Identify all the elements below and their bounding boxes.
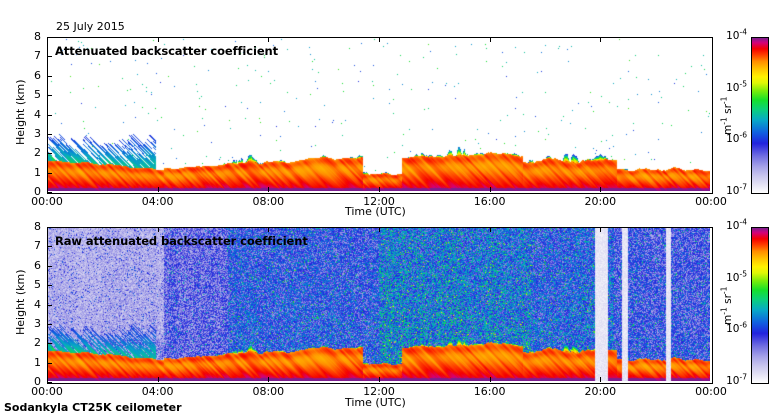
colorbar-tick-top-2: 10-6 (713, 133, 747, 145)
x-tick-top-6: 00:00 (688, 196, 734, 207)
y-tickmark-bottom-0 (47, 382, 52, 383)
y-tickmark-top-0 (47, 192, 52, 193)
x-tickmark-bottom-3 (379, 377, 380, 382)
heatmap-raw (48, 228, 710, 381)
x-tickmark-top-4 (490, 187, 491, 192)
x-tick-bottom-5: 20:00 (577, 386, 623, 397)
y-tick-top-3: 3 (19, 128, 41, 139)
panel-title-raw: Raw attenuated backscatter coefficient (55, 234, 308, 248)
colorbar-tick-bottom-1: 10-5 (713, 272, 747, 284)
x-tick-bottom-4: 16:00 (467, 386, 513, 397)
y-tickmark-bottom-7 (47, 246, 52, 247)
x-tickmark-top-bottom-4 (490, 227, 491, 232)
y-tick-top-2: 2 (19, 147, 41, 158)
x-tick-bottom-1: 04:00 (135, 386, 181, 397)
y-tickmark-bottom-1 (47, 363, 52, 364)
x-tickmark-top-1 (158, 187, 159, 192)
colorbar-top (751, 37, 769, 194)
y-tick-bottom-3: 3 (19, 318, 41, 329)
footer-caption: Sodankyla CT25K ceilometer (4, 401, 182, 414)
y-tick-bottom-6: 6 (19, 260, 41, 271)
y-tick-top-8: 8 (19, 31, 41, 42)
y-tick-top-6: 6 (19, 70, 41, 81)
x-tick-bottom-2: 08:00 (245, 386, 291, 397)
colorbar-bottom (751, 227, 769, 384)
heatmap-filtered (48, 38, 710, 191)
y-tickmark-top-4 (47, 115, 52, 116)
y-tickmark-bottom-3 (47, 324, 52, 325)
y-tickmark-top-3 (47, 134, 52, 135)
x-tickmark-top-bottom-1 (158, 227, 159, 232)
y-tick-bottom-7: 7 (19, 240, 41, 251)
y-tick-top-5: 5 (19, 89, 41, 100)
colorbar-tick-top-3: 10-7 (713, 185, 747, 197)
panel-title-filtered: Attenuated backscatter coefficient (55, 44, 278, 58)
colorbar-tick-bottom-3: 10-7 (713, 375, 747, 387)
x-tickmark-top-bottom-5 (600, 227, 601, 232)
y-tickmark-bottom-6 (47, 266, 52, 267)
x-tickmark-top-bottom-3 (379, 227, 380, 232)
y-tickmark-top-2 (47, 153, 52, 154)
y-tick-bottom-2: 2 (19, 337, 41, 348)
x-tick-bottom-6: 00:00 (688, 386, 734, 397)
x-tickmark-top-top-5 (600, 37, 601, 42)
x-tickmark-bottom-1 (158, 377, 159, 382)
colorbar-tick-top-0: 10-4 (713, 30, 747, 42)
y-tick-bottom-4: 4 (19, 299, 41, 310)
y-tickmark-top-6 (47, 76, 52, 77)
x-tick-top-0: 00:00 (24, 196, 70, 207)
x-tick-top-4: 16:00 (467, 196, 513, 207)
y-tickmark-top-1 (47, 173, 52, 174)
x-tickmark-bottom-5 (600, 377, 601, 382)
x-tickmark-bottom-4 (490, 377, 491, 382)
y-tick-top-4: 4 (19, 109, 41, 120)
y-tickmark-top-7 (47, 56, 52, 57)
y-tickmark-bottom-8 (47, 227, 52, 228)
colorbar-tick-bottom-0: 10-4 (713, 220, 747, 232)
colorbar-units-top: m-1 sr-1 (722, 97, 734, 135)
x-tick-top-5: 20:00 (577, 196, 623, 207)
x-tickmark-top-3 (379, 187, 380, 192)
x-tick-bottom-3: 12:00 (356, 386, 402, 397)
x-tickmark-top-top-3 (379, 37, 380, 42)
x-tickmark-top-top-1 (158, 37, 159, 42)
y-tickmark-bottom-2 (47, 343, 52, 344)
y-tick-bottom-5: 5 (19, 279, 41, 290)
y-tick-top-7: 7 (19, 50, 41, 61)
colorbar-tick-top-1: 10-5 (713, 82, 747, 94)
colorbar-tick-bottom-2: 10-6 (713, 323, 747, 335)
y-tick-bottom-1: 1 (19, 357, 41, 368)
x-tickmark-bottom-2 (268, 377, 269, 382)
plot-frame-filtered (47, 37, 713, 194)
y-tickmark-top-8 (47, 37, 52, 38)
colorbar-label-bottom: m-1 sr-1 (722, 287, 734, 325)
y-tickmark-top-5 (47, 95, 52, 96)
date-label: 25 July 2015 (56, 20, 125, 33)
x-tickmark-top-2 (268, 187, 269, 192)
plot-frame-raw (47, 227, 713, 384)
x-tickmark-top-top-2 (268, 37, 269, 42)
x-tick-top-2: 08:00 (245, 196, 291, 207)
x-tickmark-top-top-4 (490, 37, 491, 42)
y-tick-top-1: 1 (19, 167, 41, 178)
colorbar-units-bottom: m-1 sr-1 (722, 287, 734, 325)
colorbar-label-top: m-1 sr-1 (722, 97, 734, 135)
x-tick-top-3: 12:00 (356, 196, 402, 207)
y-tickmark-bottom-5 (47, 285, 52, 286)
x-tickmark-top-bottom-2 (268, 227, 269, 232)
x-tickmark-top-5 (600, 187, 601, 192)
x-tick-top-1: 04:00 (135, 196, 181, 207)
y-tick-bottom-8: 8 (19, 221, 41, 232)
x-tick-bottom-0: 00:00 (24, 386, 70, 397)
y-tickmark-bottom-4 (47, 305, 52, 306)
